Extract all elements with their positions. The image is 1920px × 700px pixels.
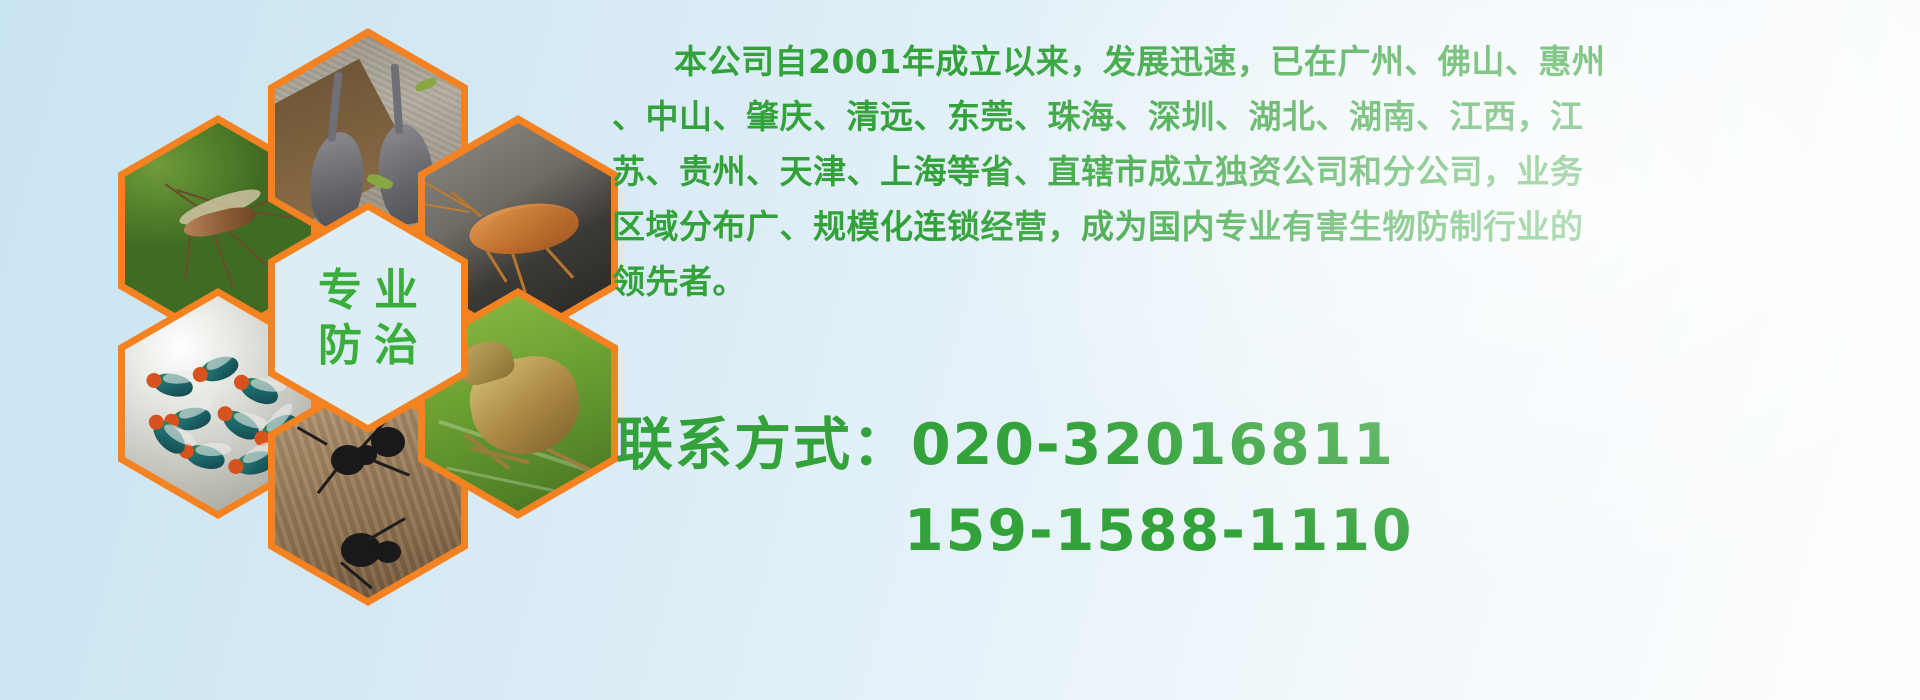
company-intro-paragraph: 本公司自2001年成立以来，发展迅速，已在广州、佛山、惠州 、中山、肇庆、清远、… [612, 34, 1902, 309]
intro-line-2: 、中山、肇庆、清远、东莞、珠海、深圳、湖北、湖南、江西，江 [612, 89, 1902, 144]
promo-banner: 专业 防治 本公司自2001年成立以来，发展迅速，已在广州、佛山、惠州 、中山、… [0, 0, 1920, 700]
intro-line-5: 领先者。 [612, 254, 1902, 309]
intro-line-1: 本公司自2001年成立以来，发展迅速，已在广州、佛山、惠州 [612, 34, 1902, 89]
contact-phone-secondary[interactable]: 159-1588-1110 [616, 488, 1916, 574]
collage-label-line1: 专业 [306, 263, 430, 318]
intro-line-4: 区域分布广、规模化连锁经营，成为国内专业有害生物防制行业的 [612, 199, 1902, 254]
collage-label-line2: 防治 [306, 318, 430, 373]
contact-phone-primary[interactable]: 联系方式：020-32016811 [616, 402, 1916, 488]
intro-line-3: 苏、贵州、天津、上海等省、直辖市成立独资公司和分公司，业务 [612, 144, 1902, 199]
contact-block: 联系方式：020-32016811 159-1588-1110 [616, 402, 1916, 574]
hexagon-collage: 专业 防治 [88, 0, 588, 580]
